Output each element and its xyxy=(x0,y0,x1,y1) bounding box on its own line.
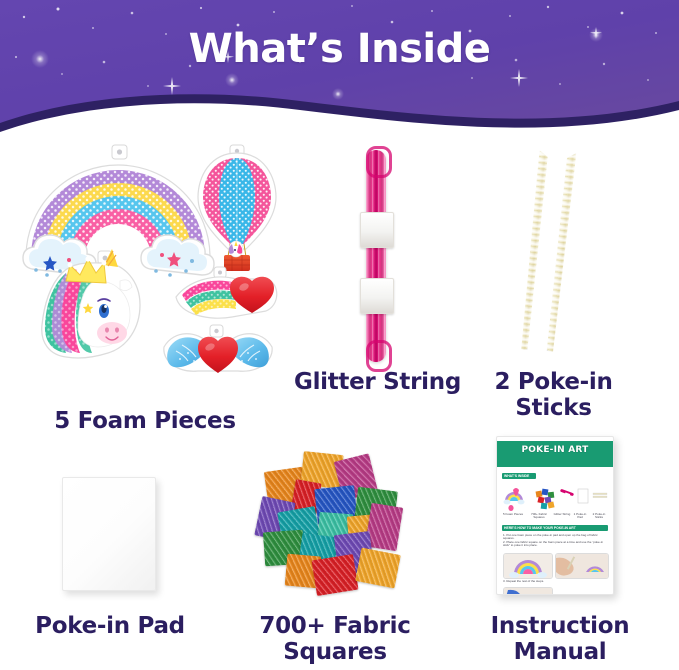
fabric-squares-item xyxy=(252,447,412,597)
floss-skein xyxy=(366,150,386,362)
instruction-manual-item: POKE-IN ART WHAT'S INSIDE xyxy=(496,436,614,595)
poke-in-stick-1 xyxy=(519,150,549,350)
foam-pieces-icon xyxy=(504,488,525,511)
manual-section-whats-inside-label: WHAT'S INSIDE xyxy=(504,473,529,479)
winged-heart-foam-piece xyxy=(164,325,272,373)
manual-photo-rainbow-artwork xyxy=(503,553,553,579)
poke-in-sticks-icon xyxy=(593,493,607,498)
floss-loop-top xyxy=(366,146,392,178)
glitter-string-icon xyxy=(560,489,574,497)
poke-in-stick-2 xyxy=(547,152,577,352)
foam-pieces-group xyxy=(22,143,312,378)
caption-poke-in-sticks: 2 Poke-in Sticks xyxy=(466,369,641,421)
shooting-star-heart-foam-piece xyxy=(176,267,277,318)
header-banner: What’s Inside xyxy=(0,0,679,145)
caption-glitter-string: Glitter String xyxy=(290,369,465,395)
manual-thumb-label-2: Glitter String xyxy=(553,513,571,516)
mini-unicorn-icon xyxy=(229,241,243,257)
manual-thumb-label-1: 700+ Fabric Squares xyxy=(527,513,551,520)
manual-section-instructions-label: HERE'S HOW TO MAKE YOUR POKE-IN ART xyxy=(504,525,576,531)
manual-photo-finished-rainbow xyxy=(503,587,553,595)
manual-step-3: 3. Repeat the rest of the steps. xyxy=(503,580,607,583)
manual-thumb-label-3: 1 Poke-in Pad xyxy=(571,513,589,520)
poke-in-pad-icon xyxy=(578,489,588,503)
manual-logo: POKE-IN ART xyxy=(497,445,613,455)
manual-thumbnails xyxy=(502,483,608,513)
fabric-squares-icon xyxy=(536,489,555,510)
caption-instruction-manual: Instruction Manual xyxy=(460,613,660,665)
manual-thumb-label-4: 2 Poke-in Sticks xyxy=(589,513,609,520)
caption-poke-in-pad: Poke-in Pad xyxy=(20,613,200,639)
caption-fabric-squares: 700+ Fabric Squares xyxy=(240,613,430,665)
manual-photo-hands-poking xyxy=(555,553,609,579)
rainbow-with-clouds-foam-piece xyxy=(23,145,214,277)
whats-inside-infographic: What’s Inside xyxy=(0,0,679,670)
page-title: What’s Inside xyxy=(0,26,679,72)
poke-in-sticks-item xyxy=(505,150,605,355)
floss-band-upper xyxy=(360,212,394,248)
glitter-string-item xyxy=(352,150,400,362)
poke-in-pad-item xyxy=(62,477,156,591)
manual-thumb-label-0: 5 Foam Pieces xyxy=(502,513,524,516)
floss-loop-bottom xyxy=(366,340,392,372)
header-wave-shape xyxy=(0,0,679,145)
floss-band-lower xyxy=(360,278,394,314)
caption-foam-pieces: 5 Foam Pieces xyxy=(0,408,290,434)
manual-step-2: 2. Place one fabric square on the foam p… xyxy=(503,541,607,548)
